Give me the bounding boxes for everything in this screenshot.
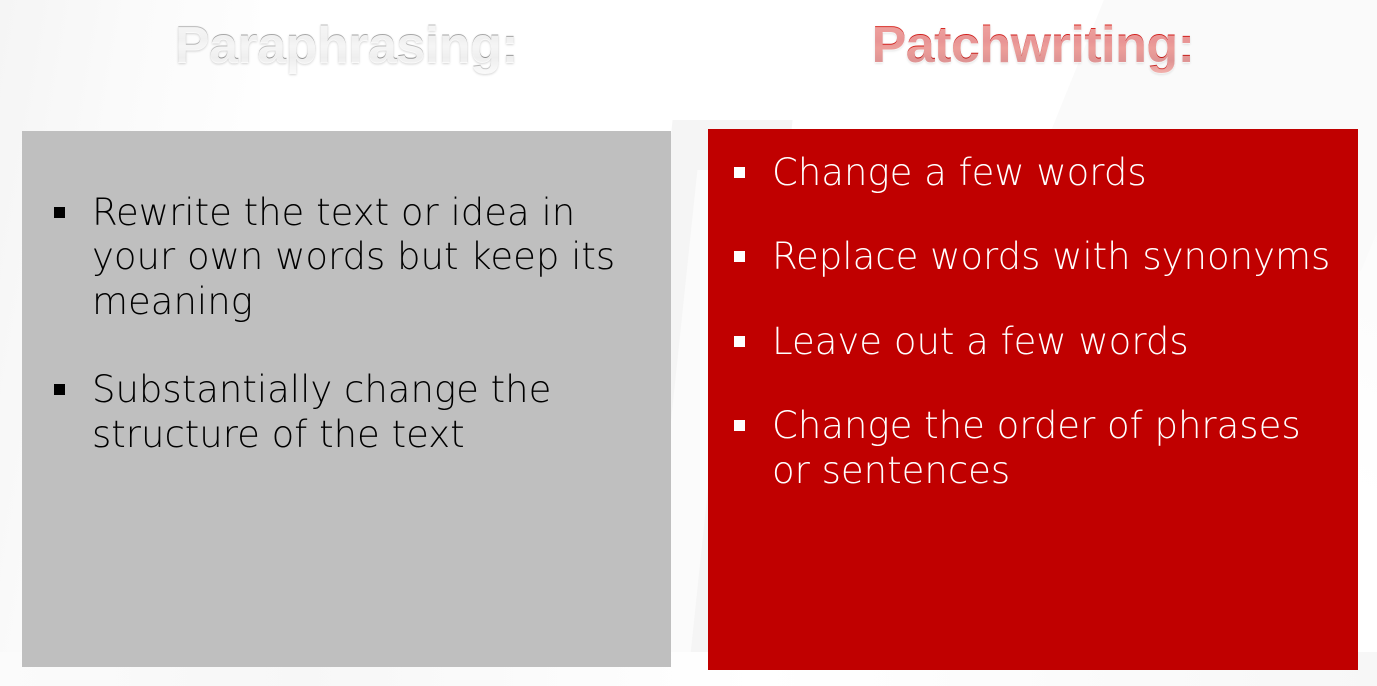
paraphrasing-heading: Paraphrasing:	[22, 18, 671, 73]
list-item: Change the order of phrases or sentences	[728, 404, 1338, 493]
square-bullet-icon	[54, 207, 65, 218]
list-item-label: Change the order of phrases or sentences	[772, 404, 1338, 493]
list-item-label: Change a few words	[772, 151, 1338, 195]
square-bullet-icon	[734, 251, 745, 262]
list-item: Substantially change the structure of th…	[48, 368, 645, 457]
list-item-label: Rewrite the text or idea in your own wor…	[92, 191, 645, 324]
square-bullet-icon	[734, 167, 745, 178]
patchwriting-heading: Patchwriting:	[708, 18, 1358, 73]
list-item: Rewrite the text or idea in your own wor…	[48, 191, 645, 324]
slide-content: Paraphrasing: Rewrite the text or idea i…	[0, 0, 1377, 686]
list-item: Leave out a few words	[728, 320, 1338, 364]
square-bullet-icon	[54, 384, 65, 395]
paraphrasing-bullet-list: Rewrite the text or idea in your own wor…	[48, 191, 645, 457]
list-item-label: Leave out a few words	[772, 320, 1338, 364]
list-item-label: Substantially change the structure of th…	[92, 368, 645, 457]
square-bullet-icon	[734, 336, 745, 347]
list-item: Replace words with synonyms	[728, 235, 1338, 279]
patchwriting-bullet-list: Change a few words Replace words with sy…	[728, 151, 1338, 493]
list-item-label: Replace words with synonyms	[772, 235, 1338, 279]
paraphrasing-panel: Rewrite the text or idea in your own wor…	[22, 131, 671, 667]
patchwriting-panel: Change a few words Replace words with sy…	[708, 129, 1358, 670]
list-item: Change a few words	[728, 151, 1338, 195]
square-bullet-icon	[734, 420, 745, 431]
